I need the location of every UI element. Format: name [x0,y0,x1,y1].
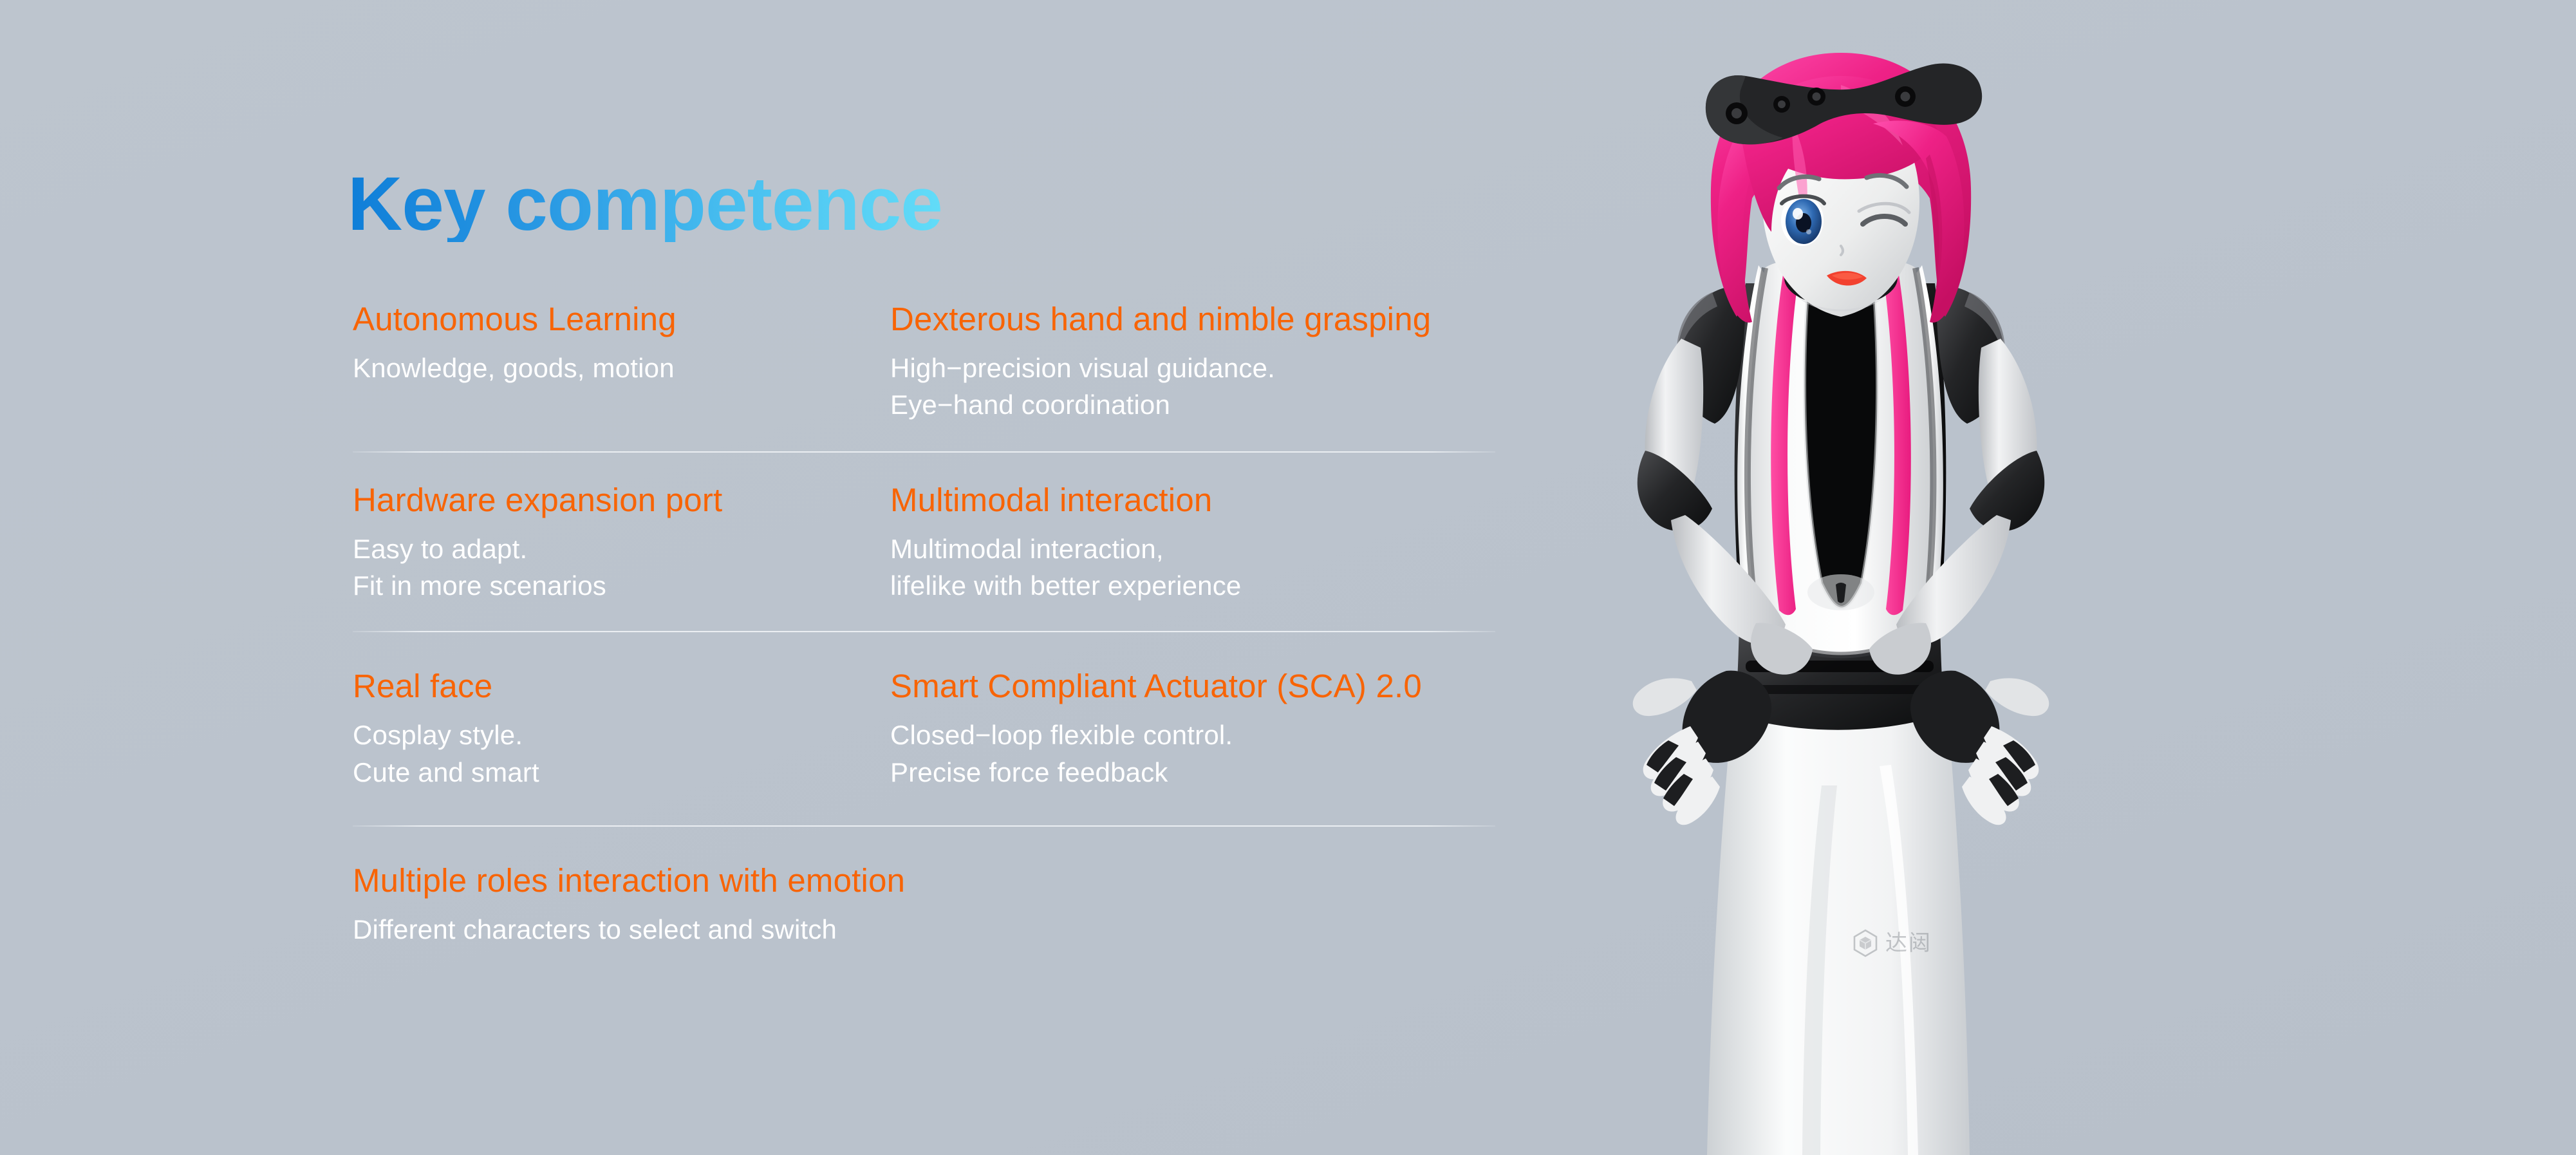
robot-stripe-left [1771,267,1800,615]
robot-hair-fringe [1741,76,1941,232]
robot-neck [1809,187,1872,278]
feature-row: Real face Cosplay style. Cute and smart … [353,632,1495,826]
robot-hand-right [1910,671,1999,763]
feature-heading: Real face [353,670,875,702]
feature-body: Closed−loop flexible control. Precise fo… [890,717,1495,790]
feature-card-smart-compliant-actuator[interactable]: Smart Compliant Actuator (SCA) 2.0 Close… [890,670,1495,790]
feature-card-dexterous-hand[interactable]: Dexterous hand and nimble grasping High−… [890,303,1495,423]
robot-fingers-left [1643,726,1720,825]
robot-chest-opening [1805,265,1878,608]
robot-hair-right [1873,120,1965,323]
robot-head-sensor-bow [1706,64,1982,145]
feature-row: Multiple roles interaction with emotion … [353,827,1495,948]
feature-grid: Autonomous Learning Knowledge, goods, mo… [353,303,1495,948]
feature-heading: Hardware expansion port [353,484,875,516]
slide-root: Key competence Autonomous Learning Knowl… [0,0,2576,1155]
robot-lips [1827,271,1867,286]
feature-body: Different characters to select and switc… [353,911,1495,948]
robot-shoulder-left [1677,286,1746,424]
feature-heading: Multimodal interaction [890,484,1495,516]
robot-lower-body [1707,682,1970,1155]
feature-row: Autonomous Learning Knowledge, goods, mo… [353,303,1495,453]
robot-upper-arm-right [1979,339,2037,510]
robot-upper-arm-left [1645,339,1704,510]
feature-body: Knowledge, goods, motion [353,350,875,386]
robot-hair-left [1717,120,1809,323]
feature-heading: Smart Compliant Actuator (SCA) 2.0 [890,670,1495,702]
robot-eyebrow-left [1779,176,1819,188]
robot-forearm-right [1896,515,2011,645]
feature-heading: Autonomous Learning [353,303,875,335]
hexagon-cube-icon [1853,929,1878,957]
robot-chest-plate [1748,256,1933,655]
page-title: Key competence [348,166,942,242]
feature-heading: Multiple roles interaction with emotion [353,864,1495,897]
feature-card-hardware-expansion-port[interactable]: Hardware expansion port Easy to adapt. F… [353,484,890,604]
feature-row: Hardware expansion port Easy to adapt. F… [353,453,1495,632]
brand-watermark: 达闼 [1853,929,1932,957]
robot-elbow-left [1638,451,1712,531]
robot-face [1762,102,1919,317]
feature-heading: Dexterous hand and nimble grasping [890,303,1495,335]
robot-torso-core [1735,283,1946,651]
feature-body: Multimodal interaction, lifelike with be… [890,531,1495,604]
robot-shoulder-right [1936,286,2005,424]
feature-card-real-face[interactable]: Real face Cosplay style. Cute and smart [353,670,890,790]
robot-fingers-right [1962,726,2039,825]
feature-body: Cosplay style. Cute and smart [353,717,875,790]
robot-hair-back [1711,53,1971,317]
robot-stripe-right [1882,267,1911,615]
robot-illustration [1519,26,2163,1155]
feature-card-multimodal-interaction[interactable]: Multimodal interaction Multimodal intera… [890,484,1495,604]
robot-pelvis [1734,624,1945,730]
feature-card-autonomous-learning[interactable]: Autonomous Learning Knowledge, goods, mo… [353,303,890,423]
robot-elbow-right [1970,451,2044,531]
feature-body: High−precision visual guidance. Eye−hand… [890,350,1495,423]
robot-forearm-left [1671,515,1786,645]
brand-logo-text: 达闼 [1885,932,1932,954]
robot-eye-open [1781,194,1824,246]
feature-body: Easy to adapt. Fit in more scenarios [353,531,875,604]
robot-hand-left [1683,671,1771,763]
robot-eye-wink [1859,203,1909,224]
robot-eyebrow-right [1867,175,1907,187]
feature-card-multiple-roles-interaction[interactable]: Multiple roles interaction with emotion … [353,864,1495,948]
